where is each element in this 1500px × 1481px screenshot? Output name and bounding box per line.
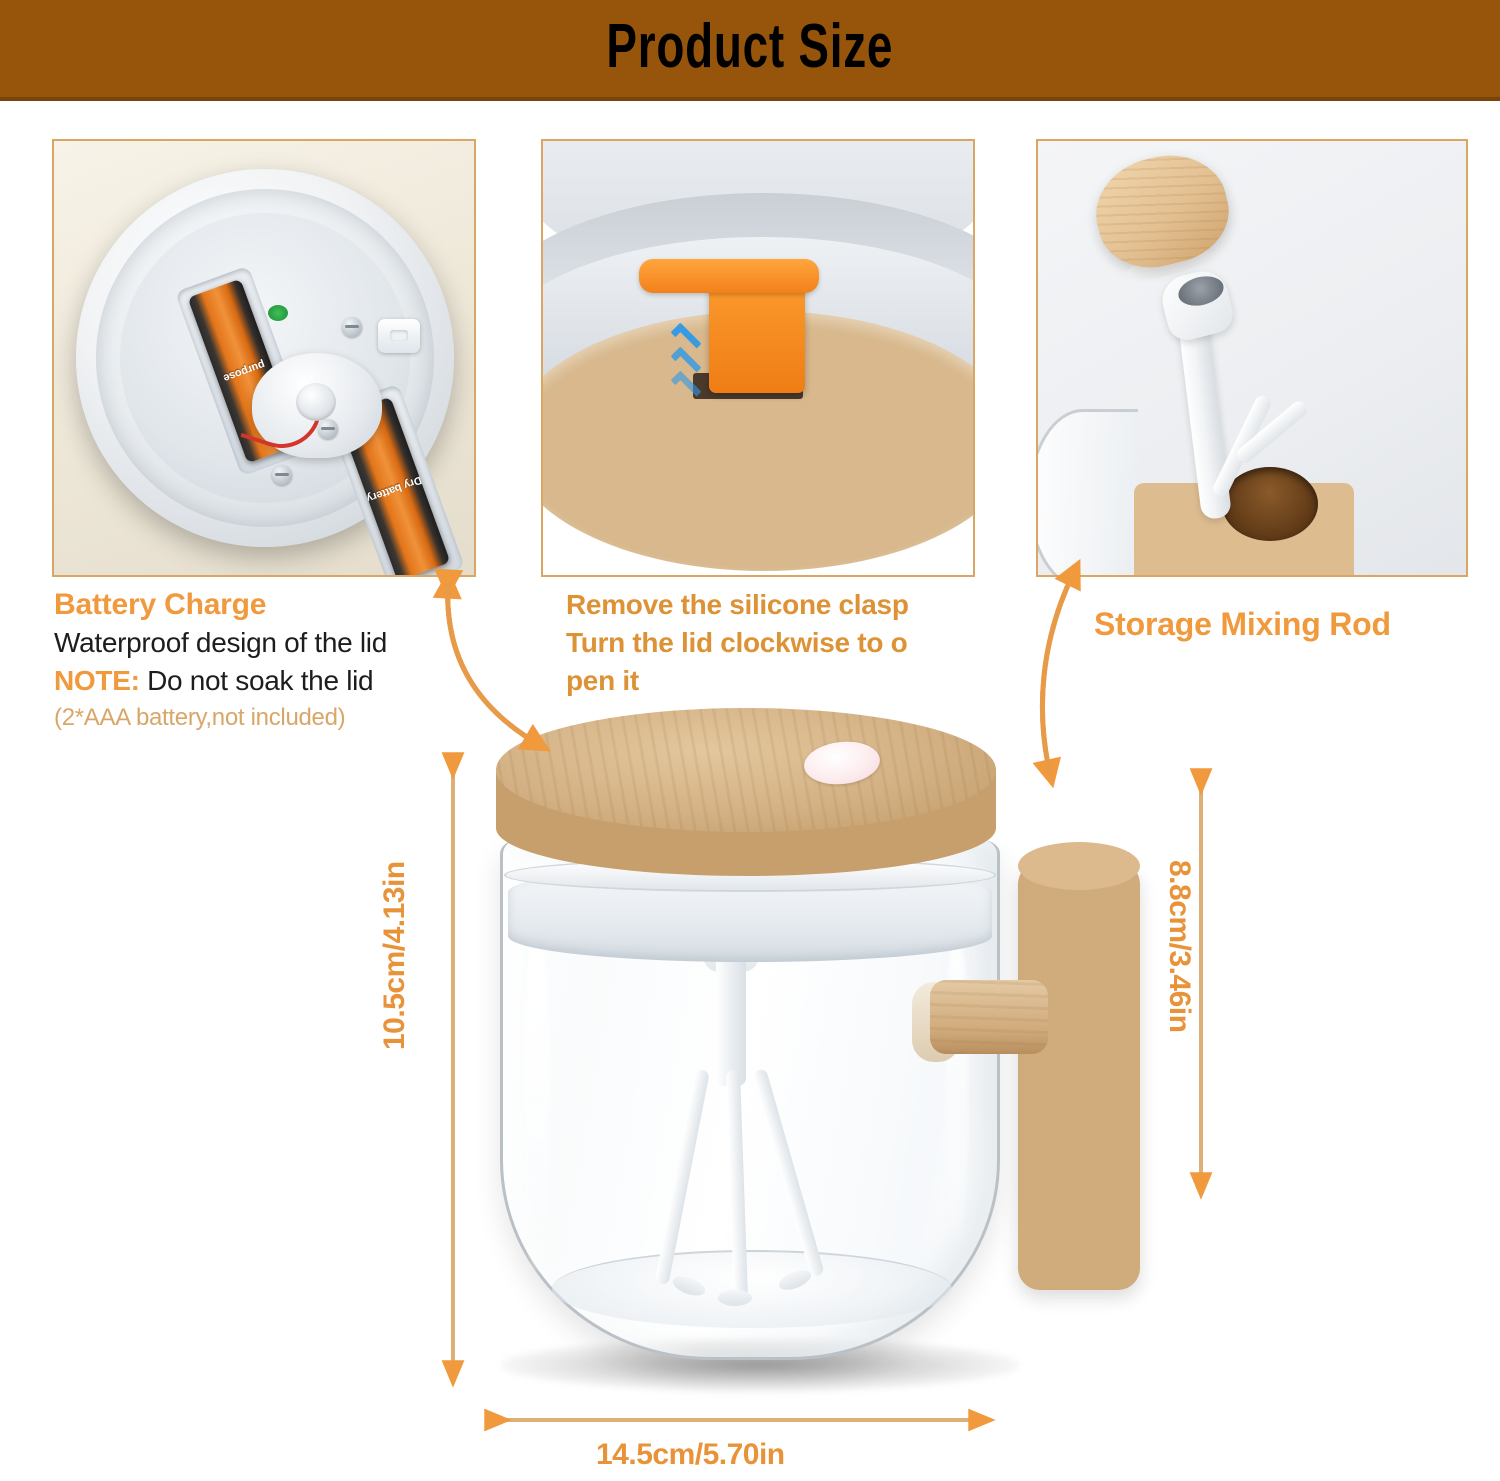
photo-storage-mixing-rod xyxy=(1036,139,1468,577)
dimension-label-width: 14.5cm/5.70in xyxy=(596,1438,785,1472)
wooden-lid-top xyxy=(496,708,996,832)
caption-title: Storage Mixing Rod xyxy=(1094,604,1494,644)
glass-highlight-left xyxy=(524,940,550,1270)
caption-line-1: Remove the silicone clasp xyxy=(566,586,986,624)
lid-switch-tab xyxy=(378,319,420,353)
photo-battery-compartment: purpose Dry battery xyxy=(52,139,476,577)
header-banner: Product Size xyxy=(0,0,1500,101)
handle-tube-cap xyxy=(1018,842,1140,890)
note-text: Do not soak the lid xyxy=(147,665,373,696)
battery-green-marker xyxy=(268,305,288,321)
battery-label-right: Dry battery xyxy=(365,473,424,504)
motor-knob xyxy=(296,383,336,421)
dimension-line-width xyxy=(476,1400,1004,1440)
page-title: Product Size xyxy=(607,16,894,78)
whisk-foot xyxy=(718,1290,752,1306)
screw-icon xyxy=(272,465,292,485)
caption-footnote: (2*AAA battery,not included) xyxy=(54,701,484,735)
product-illustration xyxy=(460,690,1160,1420)
screw-icon xyxy=(318,419,338,439)
glass-mug-base xyxy=(552,1250,952,1328)
caption-silicone-clasp: Remove the silicone clasp Turn the lid c… xyxy=(566,586,986,699)
dimension-line-height xyxy=(430,740,476,1400)
caption-battery-charge: Battery Charge Waterproof design of the … xyxy=(54,586,484,734)
caption-line-waterproof: Waterproof design of the lid xyxy=(54,624,484,663)
caption-line-2: Turn the lid clockwise to o xyxy=(566,624,986,662)
silicone-clasp-stem xyxy=(709,281,805,393)
caption-title: Battery Charge xyxy=(54,586,484,624)
storage-tube-opening xyxy=(1222,467,1318,541)
caption-note-row: NOTE: Do not soak the lid xyxy=(54,662,484,701)
note-keyword: NOTE: xyxy=(54,665,140,696)
lid-inner-plate: purpose Dry battery xyxy=(120,213,410,503)
handle-arm xyxy=(930,980,1048,1054)
dimension-label-height: 10.5cm/4.13in xyxy=(378,861,412,1050)
screw-icon xyxy=(342,317,362,337)
glass-mug-edge xyxy=(1036,409,1138,577)
handle-storage-tube xyxy=(1018,862,1140,1290)
caption-storage-mixing-rod: Storage Mixing Rod xyxy=(1094,604,1494,644)
photo-silicone-clasp xyxy=(541,139,975,577)
silicone-clasp-head xyxy=(639,259,819,293)
dimension-label-rod-length: 8.8cm/3.46in xyxy=(1162,860,1196,1032)
